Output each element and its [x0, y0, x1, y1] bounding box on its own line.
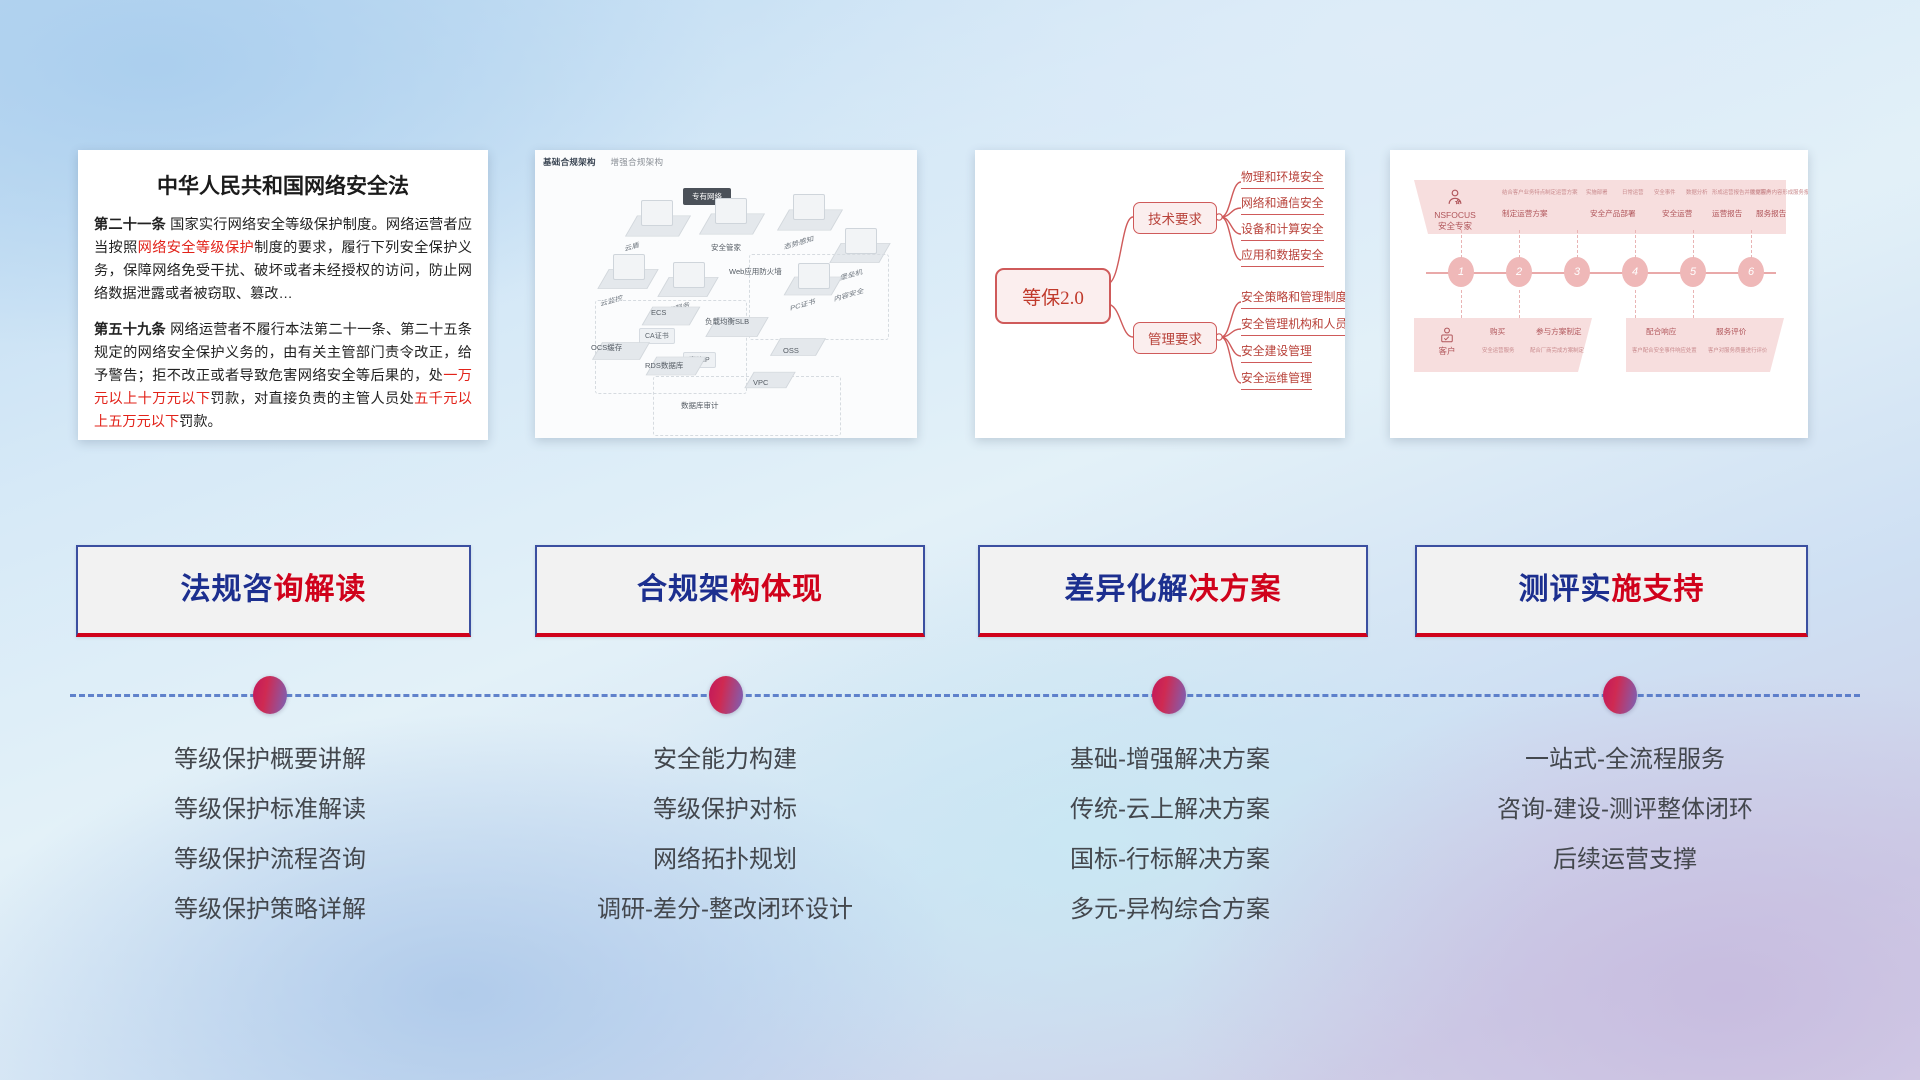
- timeline-dot-3: [1152, 676, 1186, 714]
- article-21-highlight: 网络安全等级保护: [138, 240, 254, 256]
- tick-2: [1519, 230, 1521, 258]
- top-step-4: 运营报告: [1712, 208, 1742, 219]
- tick-4: [1635, 230, 1637, 258]
- mindmap-leaf-application: 应用和数据安全: [1241, 246, 1324, 267]
- headline-box-solution[interactable]: 差异化解决方案: [978, 545, 1368, 637]
- headline-box-regulation[interactable]: 法规咨询解读: [76, 545, 471, 637]
- label-situational-awareness: 态势感知: [784, 234, 814, 252]
- list-item: 调研-差分-整改闭环设计: [510, 885, 940, 935]
- list-item: 后续运营支撑: [1400, 835, 1850, 885]
- icon-encryption-service: [673, 262, 705, 288]
- bottom-cap-3: 客户配合安全事件响应处置: [1632, 346, 1697, 354]
- icon-bastion-host: [845, 228, 877, 254]
- mindmap-branch-technical: 技术要求: [1133, 202, 1217, 234]
- detail-column-3: 基础-增强解决方案 传统-云上解决方案 国标-行标解决方案 多元-异构综合方案: [950, 735, 1390, 935]
- bottom-step-4: 服务评价: [1716, 326, 1746, 337]
- list-item: 一站式-全流程服务: [1400, 735, 1850, 785]
- card-mindmap-dengbao[interactable]: 等保2.0 技术要求 管理要求 物理和环境安全 网络和通信安全 设备和计算安全 …: [975, 150, 1345, 438]
- list-item: 多元-异构综合方案: [950, 885, 1390, 935]
- actor-label: 客户: [1438, 346, 1455, 356]
- detail-column-4: 一站式-全流程服务 咨询-建设-测评整体闭环 后续运营支撑: [1400, 735, 1850, 885]
- brand-label-2: 安全专家: [1438, 221, 1472, 231]
- tick-b4: [1693, 290, 1695, 318]
- icon-situational-awareness: [793, 194, 825, 220]
- list-item: 咨询-建设-测评整体闭环: [1400, 785, 1850, 835]
- headline-row: 法规咨询解读 合规架构体现 差异化解决方案 测评实施支持: [0, 545, 1920, 645]
- mindmap-leaf-physical: 物理和环境安全: [1241, 168, 1324, 189]
- list-item: 等级保护对标: [510, 785, 940, 835]
- detail-column-1: 等级保护概要讲解 等级保护标准解读 等级保护流程咨询 等级保护策略详解: [60, 735, 480, 935]
- mindmap-diagram: 等保2.0 技术要求 管理要求 物理和环境安全 网络和通信安全 设备和计算安全 …: [975, 150, 1345, 438]
- mindmap-leaf-construction: 安全建设管理: [1241, 342, 1312, 363]
- top-step-2: 安全产品部署: [1590, 208, 1636, 219]
- actor-block: 客户: [1420, 326, 1474, 357]
- image-card-row: 中华人民共和国网络安全法 第二十一条 国家实行网络安全等级保护制度。网络运营者应…: [0, 150, 1920, 450]
- headline-label-1: 法规咨询解读: [181, 575, 367, 605]
- law-text-body: 中华人民共和国网络安全法 第二十一条 国家实行网络安全等级保护制度。网络运营者应…: [78, 150, 488, 440]
- bottom-step-3: 配合响应: [1646, 326, 1676, 337]
- label-db-audit: 数据库审计: [681, 400, 719, 411]
- article-59-text-b: 罚款，对直接负责的主管人员处: [210, 391, 414, 407]
- list-item: 传统-云上解决方案: [950, 785, 1390, 835]
- top-step-1: 制定运营方案: [1502, 208, 1548, 219]
- brand-label-1: NSFOCUS: [1434, 210, 1476, 220]
- label-ocs: OCS缓存: [591, 342, 622, 353]
- article-59-text-c: 罚款。: [179, 414, 222, 430]
- timeline-dot-1: [253, 676, 287, 714]
- list-item: 等级保护流程咨询: [60, 835, 480, 885]
- slide-stage: 中华人民共和国网络安全法 第二十一条 国家实行网络安全等级保护制度。网络运营者应…: [0, 0, 1920, 1080]
- tab-enhanced-architecture[interactable]: 增强合规架构: [610, 157, 663, 167]
- timeline-node-3: 3: [1564, 257, 1590, 287]
- top-step-3: 安全运营: [1662, 208, 1692, 219]
- timeline-axis: [1426, 272, 1776, 274]
- brand-block: NSFOCUS 安全专家: [1420, 188, 1490, 231]
- timeline-node-6: 6: [1738, 257, 1764, 287]
- tick-3: [1577, 230, 1579, 258]
- law-article-21: 第二十一条 国家实行网络安全等级保护制度。网络运营者应当按照网络安全等级保护制度…: [94, 214, 472, 306]
- tick-b3: [1635, 290, 1637, 318]
- expert-avatar-icon: [1445, 188, 1465, 208]
- card-compliance-architecture[interactable]: 基础合规架构 增强合规架构 专有网络 云盾 安全管家 态势感知 堡垒机: [535, 150, 917, 438]
- law-title: 中华人民共和国网络安全法: [94, 170, 472, 200]
- mindmap-branch-management: 管理要求: [1133, 322, 1217, 354]
- timeline-node-2: 2: [1506, 257, 1532, 287]
- icon-cloudshield: [641, 200, 673, 226]
- timeline-node-1: 1: [1448, 257, 1474, 287]
- mindmap-leaf-device: 设备和计算安全: [1241, 220, 1324, 241]
- tick-5: [1693, 230, 1695, 258]
- bottom-step-1: 购买: [1490, 326, 1505, 337]
- mindmap-leaf-network: 网络和通信安全: [1241, 194, 1324, 215]
- headline-box-assessment[interactable]: 测评实施支持: [1415, 545, 1808, 637]
- timeline-node-5: 5: [1680, 257, 1706, 287]
- mindmap-root-node: 等保2.0: [995, 268, 1111, 324]
- bottom-cap-4: 客户对服务质量进行评价: [1708, 346, 1767, 354]
- tab-basic-architecture[interactable]: 基础合规架构: [543, 157, 596, 167]
- tick-b1: [1461, 290, 1463, 318]
- mindmap-leaf-policy: 安全策略和管理制度: [1241, 288, 1345, 309]
- label-security-manager: 安全管家: [711, 242, 741, 253]
- label-cloudshield: 云盾: [624, 240, 639, 254]
- detail-column-2: 安全能力构建 等级保护对标 网络拓扑规划 调研-差分-整改闭环设计: [510, 735, 940, 935]
- list-item: 等级保护策略详解: [60, 885, 480, 935]
- top-cap-5: 数据分析: [1686, 188, 1708, 196]
- architecture-diagram: 基础合规架构 增强合规架构 专有网络 云盾 安全管家 态势感知 堡垒机: [535, 150, 917, 438]
- timeline-node-4: 4: [1622, 257, 1648, 287]
- mindmap-leaf-org: 安全管理机构和人员: [1241, 315, 1345, 336]
- top-cap-7: 依据服务内容形成服务报告提交客户: [1750, 188, 1808, 196]
- architecture-tabs[interactable]: 基础合规架构 增强合规架构: [543, 156, 675, 168]
- top-cap-2: 实施部署: [1586, 188, 1608, 196]
- article-59-label: 第五十九条: [94, 322, 166, 338]
- label-slb: 负载均衡SLB: [705, 316, 749, 327]
- list-item: 网络拓扑规划: [510, 835, 940, 885]
- label-oss: OSS: [783, 346, 799, 355]
- label-vpc: VPC: [753, 378, 768, 387]
- bottom-cap-1: 安全运营服务: [1482, 346, 1514, 354]
- list-item: 国标-行标解决方案: [950, 835, 1390, 885]
- list-item: 安全能力构建: [510, 735, 940, 785]
- dashed-timeline-axis: [70, 694, 1860, 700]
- bottom-step-2: 参与方案制定: [1536, 326, 1582, 337]
- tick-6: [1751, 230, 1753, 258]
- top-cap-4: 安全事件: [1654, 188, 1676, 196]
- list-item: 等级保护概要讲解: [60, 735, 480, 785]
- icon-cloud-monitor: [613, 254, 645, 280]
- tick-1: [1461, 230, 1463, 258]
- icon-security-manager: [715, 198, 747, 224]
- card-cybersecurity-law[interactable]: 中华人民共和国网络安全法 第二十一条 国家实行网络安全等级保护制度。网络运营者应…: [78, 150, 488, 440]
- timeline-dot-4: [1603, 676, 1637, 714]
- label-rds: RDS数据库: [645, 360, 683, 371]
- headline-label-2: 合规架构体现: [637, 575, 823, 605]
- timeline-dot-2: [709, 676, 743, 714]
- article-21-label: 第二十一条: [94, 217, 166, 233]
- label-ecs: ECS: [651, 308, 666, 317]
- headline-label-4: 测评实施支持: [1519, 575, 1705, 605]
- top-cap-1: 结合客户业务特点制定运营方案: [1502, 188, 1577, 196]
- law-article-59: 第五十九条 网络运营者不履行本法第二十一条、第二十五条规定的网络安全保护义务的，…: [94, 319, 472, 434]
- top-step-5: 服务报告: [1756, 208, 1786, 219]
- timeline-infographic: NSFOCUS 安全专家 制定运营方案 安全产品部署 安全运营 运营报告 服务报…: [1390, 150, 1808, 438]
- list-item: 等级保护标准解读: [60, 785, 480, 835]
- customer-avatar-icon: [1438, 326, 1456, 344]
- headline-label-3: 差异化解决方案: [1065, 575, 1282, 605]
- top-cap-3: 日常运营: [1622, 188, 1644, 196]
- headline-box-architecture[interactable]: 合规架构体现: [535, 545, 925, 637]
- card-service-timeline[interactable]: NSFOCUS 安全专家 制定运营方案 安全产品部署 安全运营 运营报告 服务报…: [1390, 150, 1808, 438]
- mindmap-leaf-operations: 安全运维管理: [1241, 369, 1312, 390]
- tick-b2: [1519, 290, 1521, 318]
- bottom-cap-2: 配合厂商完成方案制定: [1530, 346, 1584, 354]
- label-waf: Web应用防火墙: [729, 266, 782, 277]
- list-item: 基础-增强解决方案: [950, 735, 1390, 785]
